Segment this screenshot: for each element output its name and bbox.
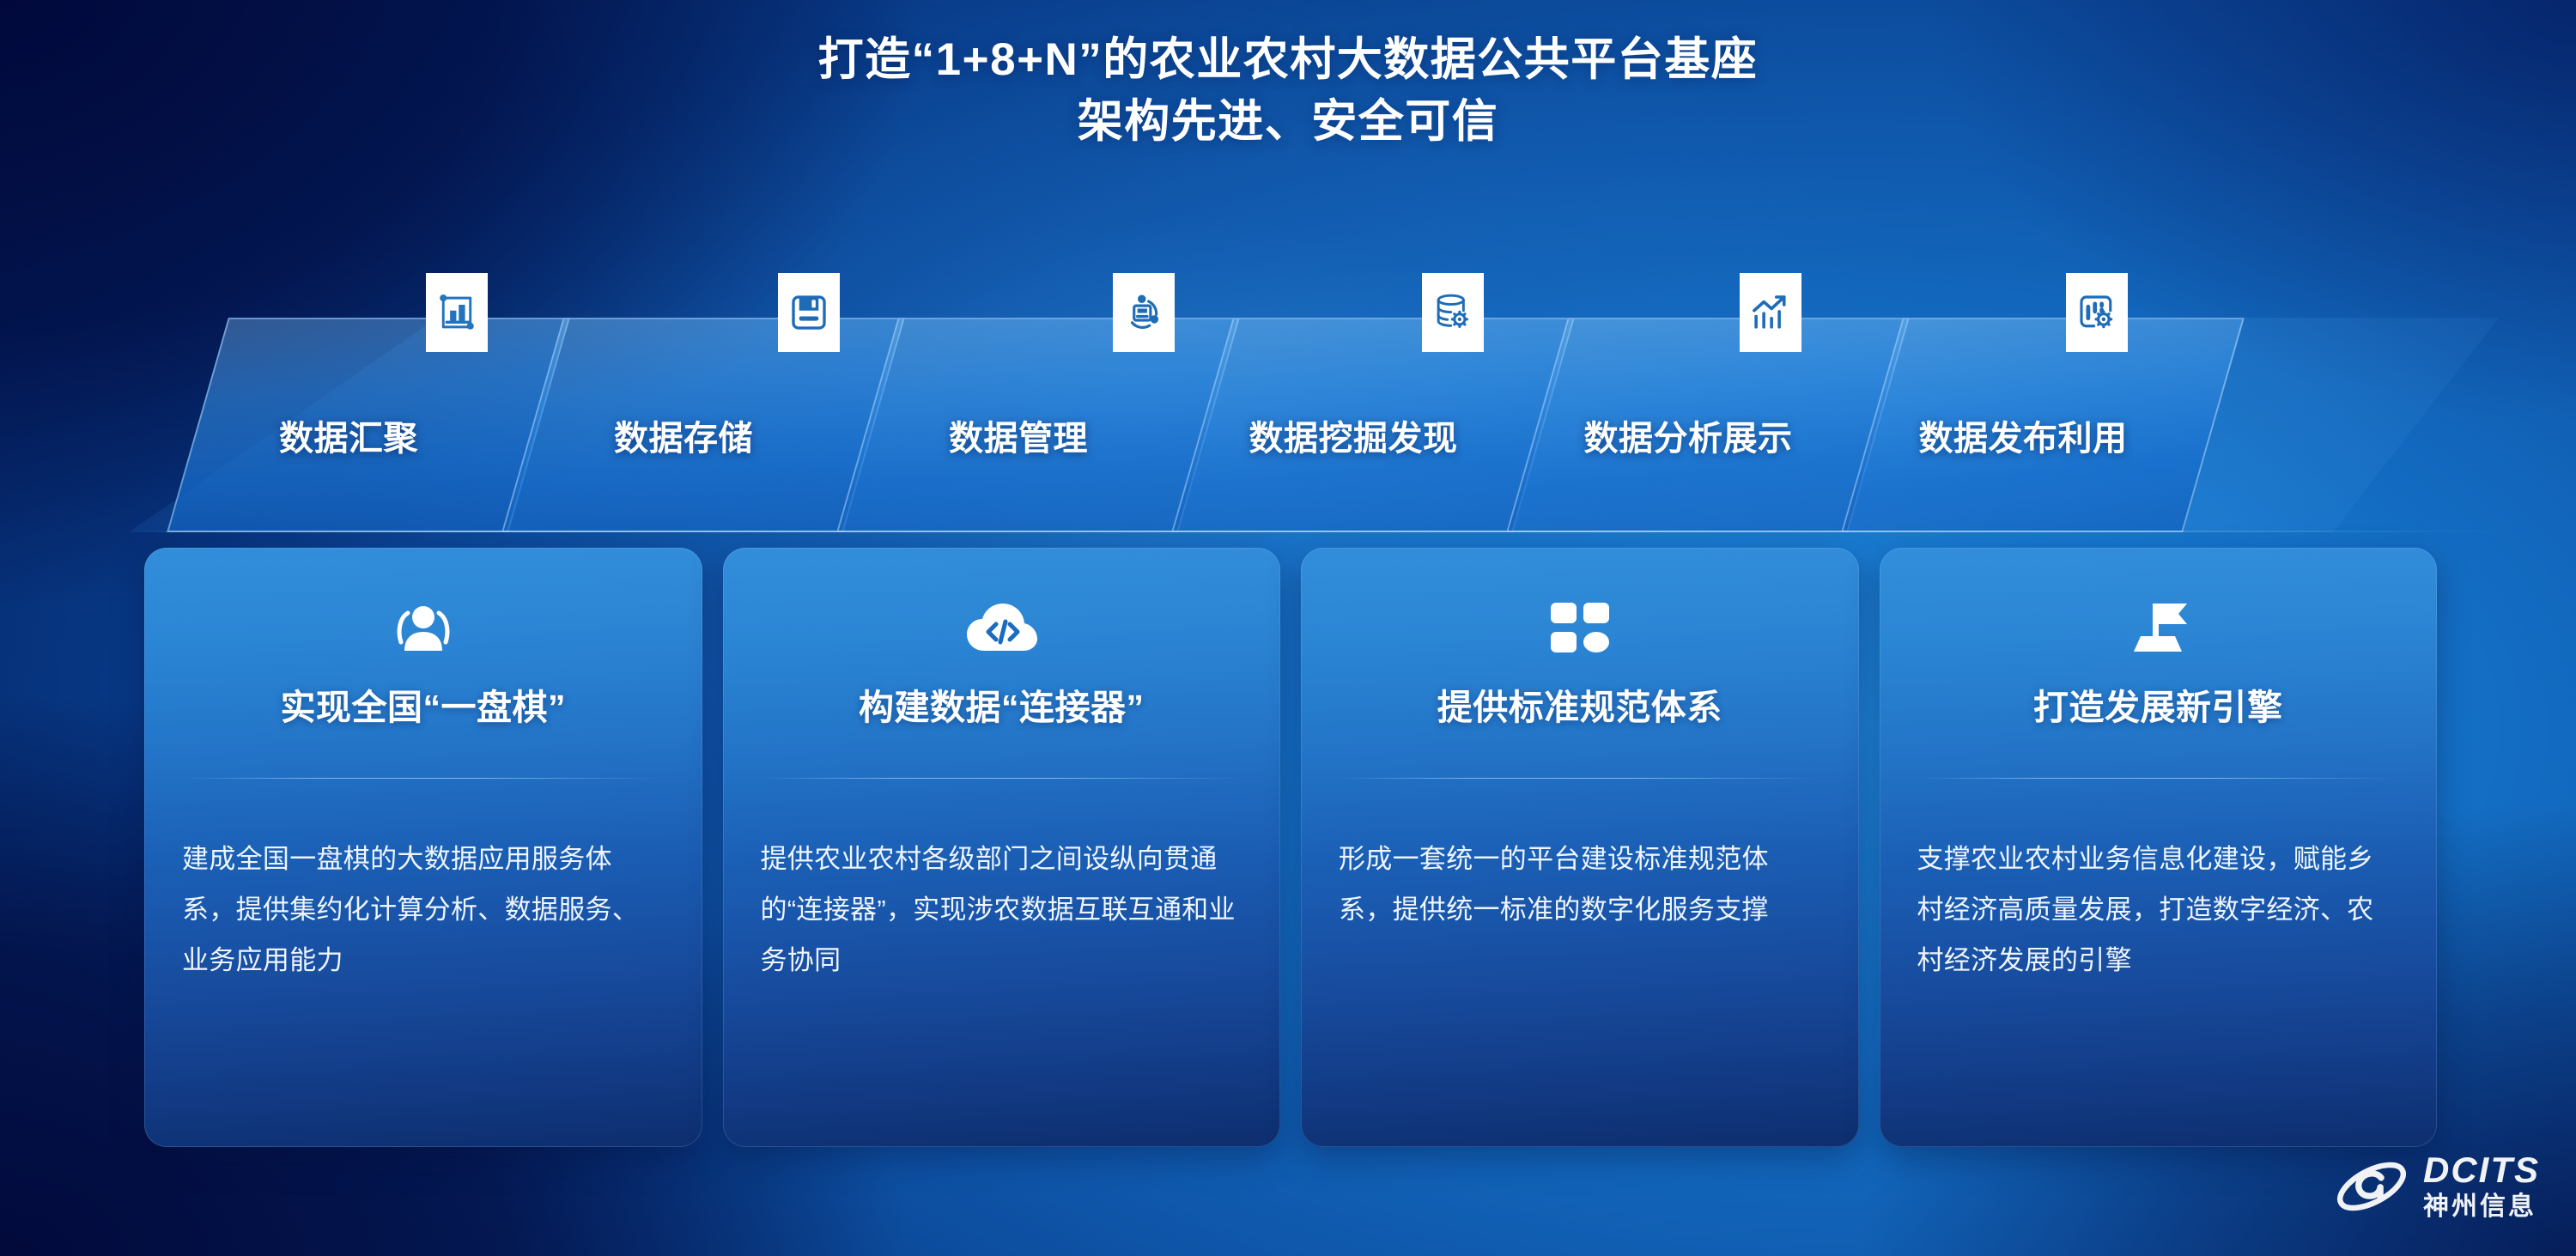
logo-wordmark: DCITS [2423,1152,2540,1188]
bar-chart-frame-icon [426,273,488,352]
four-squares-icon [1547,587,1613,670]
ribbon-segment-data-publishing[interactable] [1841,318,2245,532]
card-divider [761,778,1243,779]
ribbon-segment-data-analysis[interactable] [1506,318,1910,532]
ribbon-segment-data-collection[interactable] [167,318,570,532]
card-title: 打造发展新引擎 [2033,678,2283,730]
card-divider [1917,778,2400,779]
feature-card-growth-engine[interactable]: 打造发展新引擎 支撑农业农村业务信息化建设，赋能乡村经济高质量发展，打造数字经济… [1880,548,2438,1147]
orbit-swoosh-icon [2332,1154,2411,1219]
ribbon-segment-data-management[interactable] [836,318,1240,532]
card-body: 建成全国一盘棋的大数据应用服务体系，提供集约化计算分析、数据服务、业务应用能力 [182,834,665,986]
card-body: 形成一套统一的平台建设标准规范体系，提供统一标准的数字化服务支撑 [1339,834,1821,935]
document-nodes-icon [1113,273,1175,352]
dcits-logo: DCITS 神州信息 [2332,1152,2540,1220]
card-title: 实现全国“一盘棋” [281,678,567,730]
card-title: 提供标准规范体系 [1437,678,1722,730]
feature-card-standards-system[interactable]: 提供标准规范体系 形成一套统一的平台建设标准规范体系，提供统一标准的数字化服务支… [1301,548,1859,1147]
trend-bars-icon [1740,273,1801,352]
panel-gear-icon [2066,273,2128,352]
logo-subtext: 神州信息 [2423,1194,2540,1220]
users-group-icon [389,587,458,670]
capability-ribbon: 数据汇聚 数据存储 数据管理 数据挖掘发现 数据分析展示 数据发布利用 [0,283,2576,558]
database-gear-icon [1422,273,1484,352]
flag-icon [2122,587,2194,670]
feature-card-national-chess[interactable]: 实现全国“一盘棋” 建成全国一盘棋的大数据应用服务体系，提供集约化计算分析、数据… [144,548,702,1147]
feature-card-data-connector[interactable]: 构建数据“连接器” 提供农业农村各级部门之间设纵向贯通的“连接器”，实现涉农数据… [723,548,1281,1147]
card-title: 构建数据“连接器” [859,678,1145,730]
ribbon-segment-data-mining[interactable] [1171,318,1575,532]
title-line-2: 架构先进、安全可信 [0,91,2576,153]
card-divider [182,778,665,779]
title-line-1: 打造“1+8+N”的农业农村大数据公共平台基座 [0,29,2576,91]
card-divider [1339,778,1821,779]
card-body: 支撑农业农村业务信息化建设，赋能乡村经济高质量发展，打造数字经济、农村经济发展的… [1917,834,2400,986]
ribbon-segment-data-storage[interactable] [501,318,905,532]
cloud-code-icon [962,587,1041,670]
feature-card-grid: 实现全国“一盘棋” 建成全国一盘棋的大数据应用服务体系，提供集约化计算分析、数据… [144,548,2437,1147]
card-body: 提供农业农村各级部门之间设纵向贯通的“连接器”，实现涉农数据互联互通和业务协同 [761,834,1243,986]
page-title: 打造“1+8+N”的农业农村大数据公共平台基座 架构先进、安全可信 [0,29,2576,153]
floppy-disk-icon [778,273,840,352]
